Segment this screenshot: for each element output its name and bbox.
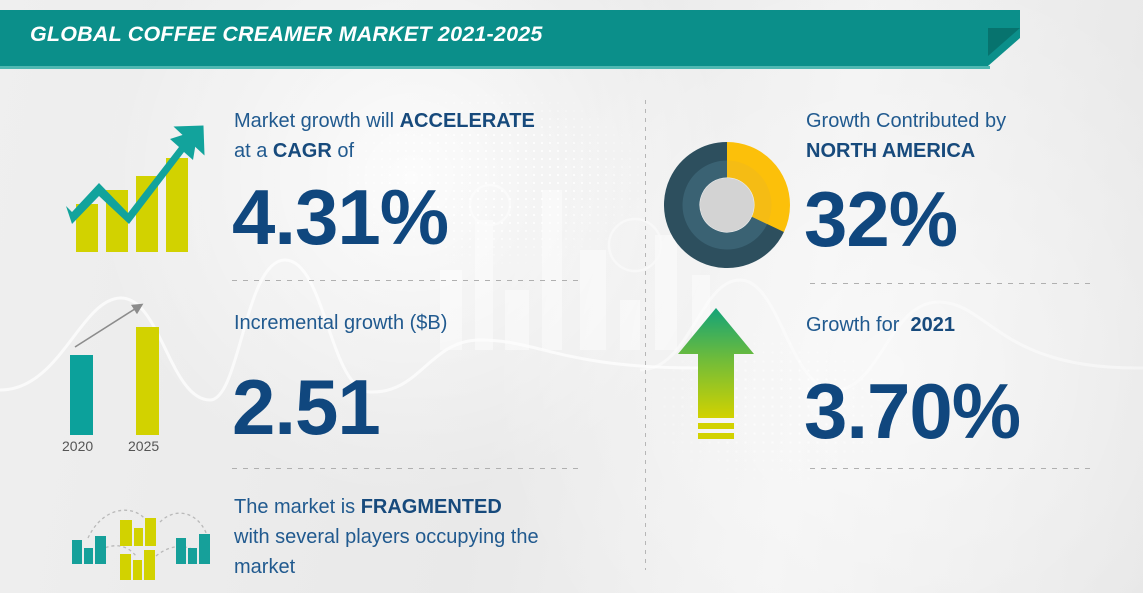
- north-america-value: 32%: [804, 180, 957, 258]
- header-underline: [0, 66, 990, 69]
- fragmentation-text-emphasis: FRAGMENTED: [361, 496, 502, 518]
- incremental-growth-caption-line1: Incremental growth ($B): [234, 308, 447, 338]
- section-divider-left-2: [232, 468, 582, 469]
- cagr-caption-cagr: CAGR: [273, 140, 332, 162]
- fragmentation-caption-line2: with several players occupying the: [234, 522, 539, 552]
- up-arrow-gradient-icon: [676, 306, 756, 448]
- growth-2021-year: 2021: [910, 314, 955, 336]
- section-divider-left-1: [232, 280, 582, 281]
- donut-chart-icon: [664, 142, 790, 268]
- fragmentation-caption-line3: market: [234, 552, 539, 582]
- section-divider-right-2: [810, 468, 1090, 469]
- cagr-caption-line2: at a CAGR of: [234, 136, 535, 166]
- fragmentation-caption-line1: The market is FRAGMENTED: [234, 492, 539, 522]
- cagr-caption: Market growth will ACCELERATE at a CAGR …: [234, 106, 535, 166]
- city-buildings-network-icon: [58, 498, 228, 584]
- cagr-value: 4.31%: [232, 178, 448, 256]
- north-america-region: NORTH AMERICA: [806, 140, 975, 162]
- fragmentation-text-prefix: The market is: [234, 496, 361, 518]
- growth-2021-text-prefix: Growth for: [806, 314, 910, 336]
- growth-2021-value: 3.70%: [804, 372, 1020, 450]
- cagr-caption-of: of: [332, 140, 354, 162]
- cagr-caption-text-plain: Market growth will: [234, 110, 400, 132]
- fragmentation-caption: The market is FRAGMENTED with several pl…: [234, 492, 539, 582]
- page-title: GLOBAL COFFEE CREAMER MARKET 2021-2025: [30, 22, 543, 47]
- column-divider: [645, 100, 646, 570]
- growth-2021-caption: Growth for 2021: [806, 310, 955, 340]
- growth-2021-caption-line1: Growth for 2021: [806, 310, 955, 340]
- bar-label-2020: 2020: [62, 438, 93, 454]
- north-america-caption: Growth Contributed by NORTH AMERICA: [806, 106, 1006, 166]
- north-america-caption-line2: NORTH AMERICA: [806, 136, 1006, 166]
- incremental-growth-caption: Incremental growth ($B): [234, 308, 447, 338]
- cagr-caption-text-accelerate: ACCELERATE: [400, 110, 535, 132]
- incremental-growth-value: 2.51: [232, 368, 380, 446]
- bar-comparison-icon: 2020 2025: [48, 290, 208, 460]
- growth-arrow-chart-icon: [62, 120, 207, 255]
- cagr-caption-line1: Market growth will ACCELERATE: [234, 106, 535, 136]
- section-divider-right-1: [810, 283, 1090, 284]
- cagr-caption-at-a: at a: [234, 140, 273, 162]
- bar-label-2025: 2025: [128, 438, 159, 454]
- north-america-caption-line1: Growth Contributed by: [806, 106, 1006, 136]
